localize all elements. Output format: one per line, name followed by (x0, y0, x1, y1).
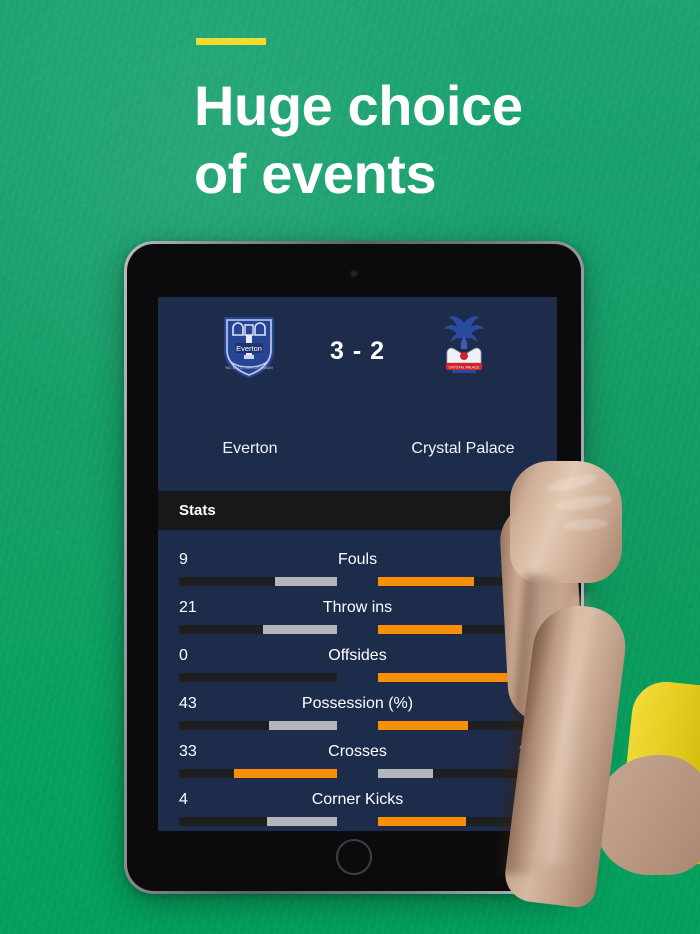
stat-label-line: 4Corner Kicks5 (158, 790, 557, 816)
match-header: Everton 1878 NIL SATIS NISI OPTIMUM 3 - … (158, 297, 557, 491)
stat-away-bar-track (378, 673, 536, 682)
promo-screenshot: Huge choice of events (0, 0, 700, 934)
stat-home-bar-track (179, 625, 337, 634)
stat-away-bar-fill (378, 673, 536, 682)
stat-label-line: 0Offsides3 (158, 646, 557, 672)
tablet-device: Everton 1878 NIL SATIS NISI OPTIMUM 3 - … (124, 241, 584, 894)
match-score: 3 - 2 (158, 337, 557, 366)
stat-home-bar-track (179, 817, 337, 826)
stat-away-bar-track (378, 577, 536, 586)
stat-home-bar-fill (234, 769, 337, 778)
stat-label-line: 33Crosses18 (158, 742, 557, 768)
stat-away-bar-track (378, 625, 536, 634)
stat-home-bar-fill (263, 625, 337, 634)
stat-name: Crosses (158, 742, 557, 762)
stat-bars (179, 721, 536, 730)
stat-label-line: 9Fouls14 (158, 550, 557, 576)
stat-bars (179, 673, 536, 682)
stat-away-bar-fill (378, 769, 433, 778)
crystal-palace-crest-icon: CRYSTAL PALACE (433, 311, 495, 381)
stat-away-bar-fill (378, 721, 468, 730)
stats-list: 9Fouls1421Throw ins240Offsides343Possess… (158, 530, 557, 831)
stat-bars (179, 625, 536, 634)
stat-name: Offsides (158, 646, 557, 666)
stat-row: 43Possession (%)57 (158, 694, 557, 742)
stat-bars (179, 817, 536, 826)
tablet-bezel: Everton 1878 NIL SATIS NISI OPTIMUM 3 - … (127, 244, 581, 891)
app-screen: Everton 1878 NIL SATIS NISI OPTIMUM 3 - … (158, 297, 557, 831)
stat-home-bar-track (179, 673, 337, 682)
stat-away-value: 14 (518, 550, 536, 570)
stats-section-header[interactable]: Stats (158, 491, 557, 530)
stat-away-value: 18 (518, 742, 536, 762)
page-title: Huge choice of events (194, 72, 624, 209)
stat-label-line: 21Throw ins24 (158, 598, 557, 624)
stat-away-bar-track (378, 769, 536, 778)
stat-home-bar-fill (275, 577, 337, 586)
stat-row: 9Fouls14 (158, 550, 557, 598)
stat-away-bar-track (378, 817, 536, 826)
stat-bars (179, 769, 536, 778)
stat-name: Possession (%) (158, 694, 557, 714)
svg-text:CRYSTAL PALACE: CRYSTAL PALACE (448, 365, 480, 369)
stat-row: 21Throw ins24 (158, 598, 557, 646)
stat-away-bar-fill (378, 577, 474, 586)
stat-away-value: 57 (518, 694, 536, 714)
stat-label-line: 43Possession (%)57 (158, 694, 557, 720)
stat-home-bar-track (179, 721, 337, 730)
stat-away-bar-track (378, 721, 536, 730)
stat-row: 4Corner Kicks5 (158, 790, 557, 831)
stat-name: Fouls (158, 550, 557, 570)
stat-home-bar-track (179, 577, 337, 586)
stat-name: Corner Kicks (158, 790, 557, 810)
headline-line-2: of events (194, 140, 624, 208)
headline-accent-rule (196, 38, 266, 45)
away-team-name: Crystal Palace (378, 440, 548, 458)
stat-name: Throw ins (158, 598, 557, 618)
stat-away-value: 3 (527, 646, 536, 666)
headline-line-1: Huge choice (194, 74, 523, 137)
stat-row: 0Offsides3 (158, 646, 557, 694)
stat-away-value: 5 (527, 790, 536, 810)
stat-home-bar-fill (269, 721, 337, 730)
stat-home-bar-track (179, 769, 337, 778)
stat-bars (179, 577, 536, 586)
stat-row: 33Crosses18 (158, 742, 557, 790)
stat-away-bar-fill (378, 817, 466, 826)
home-button[interactable] (336, 839, 372, 875)
stat-away-value: 24 (518, 598, 536, 618)
stats-section-title: Stats (179, 502, 216, 519)
stat-home-bar-fill (267, 817, 337, 826)
home-team-name: Everton (165, 440, 335, 458)
front-camera-icon (351, 270, 358, 277)
stat-away-bar-fill (378, 625, 462, 634)
